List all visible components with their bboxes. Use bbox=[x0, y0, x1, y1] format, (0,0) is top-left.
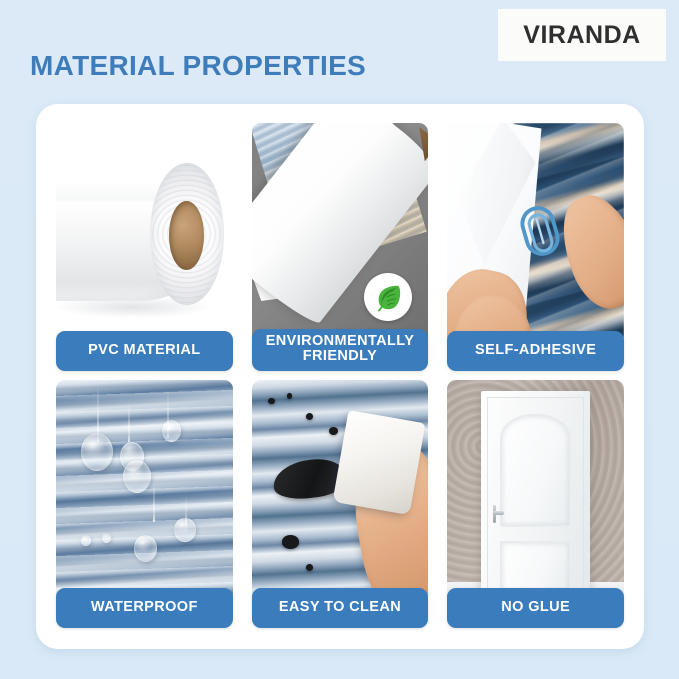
stain-spot bbox=[329, 427, 338, 435]
feature-grid: PVC MATERIAL bbox=[50, 123, 630, 628]
feature-card-no-glue[interactable]: NO GLUE bbox=[441, 380, 630, 628]
feature-label-environmentally-friendly: ENVIRONMENTALLY FRIENDLY bbox=[252, 329, 429, 371]
brand-badge: VIRANDA bbox=[498, 9, 666, 61]
droplet-trail bbox=[128, 398, 130, 442]
peeling-film-illustration bbox=[447, 123, 624, 345]
door-panel bbox=[487, 397, 583, 599]
droplet-trail bbox=[167, 389, 169, 438]
water-droplet bbox=[81, 535, 92, 546]
feature-panel: PVC MATERIAL bbox=[36, 104, 644, 649]
feature-label-waterproof: WATERPROOF bbox=[56, 588, 233, 628]
water-droplet bbox=[134, 535, 157, 562]
brand-name: VIRANDA bbox=[523, 21, 640, 50]
feature-card-easy-to-clean[interactable]: EASY TO CLEAN bbox=[246, 380, 435, 628]
feature-card-waterproof[interactable]: WATERPROOF bbox=[50, 380, 239, 628]
page-title: MATERIAL PROPERTIES bbox=[30, 50, 366, 82]
droplet-trail bbox=[185, 495, 187, 531]
stain-spot bbox=[287, 393, 292, 398]
door-upper-inset bbox=[500, 414, 572, 526]
door-frame bbox=[481, 391, 591, 602]
water-droplet bbox=[123, 460, 151, 493]
waterproof-photo bbox=[56, 380, 233, 602]
water-droplet bbox=[174, 518, 195, 542]
water-droplet bbox=[162, 420, 181, 442]
feature-label-line1: ENVIRONMENTALLY bbox=[266, 333, 415, 349]
easy-to-clean-photo bbox=[252, 380, 429, 602]
door-lower-inset bbox=[500, 541, 572, 593]
door-illustration bbox=[447, 380, 624, 602]
stain-spot bbox=[306, 413, 313, 420]
stain-spot bbox=[306, 564, 313, 571]
stain-spot bbox=[282, 535, 300, 548]
water-droplet bbox=[120, 442, 145, 471]
door-handle-icon bbox=[491, 505, 503, 523]
feature-card-self-adhesive[interactable]: SELF-ADHESIVE bbox=[441, 123, 630, 371]
feature-label-self-adhesive: SELF-ADHESIVE bbox=[447, 331, 624, 371]
feature-label-line2: FRIENDLY bbox=[303, 348, 377, 364]
self-adhesive-photo bbox=[447, 123, 624, 345]
feature-card-pvc-material[interactable]: PVC MATERIAL bbox=[50, 123, 239, 371]
no-glue-photo bbox=[447, 380, 624, 602]
droplet-trail bbox=[153, 478, 155, 522]
water-droplet bbox=[102, 533, 111, 543]
stain-spot bbox=[268, 398, 275, 405]
roll-cardboard-core bbox=[169, 201, 204, 270]
feature-label-easy-to-clean: EASY TO CLEAN bbox=[252, 588, 429, 628]
feature-label-pvc-material: PVC MATERIAL bbox=[56, 331, 233, 371]
cleaning-cloth bbox=[332, 409, 425, 514]
wiping-stains-illustration bbox=[252, 380, 429, 602]
pvc-roll-photo bbox=[56, 123, 233, 345]
eco-leaf-badge bbox=[364, 273, 412, 321]
feature-label-no-glue: NO GLUE bbox=[447, 588, 624, 628]
water-droplet bbox=[81, 433, 113, 471]
environmentally-friendly-photo bbox=[252, 123, 429, 345]
leaf-icon bbox=[373, 282, 403, 312]
pvc-roll-illustration bbox=[56, 123, 233, 345]
droplet-trail bbox=[97, 384, 99, 442]
water-droplets-illustration bbox=[56, 380, 233, 602]
feature-card-environmentally-friendly[interactable]: ENVIRONMENTALLY FRIENDLY bbox=[246, 123, 435, 371]
rolled-wallpaper-illustration bbox=[252, 123, 429, 345]
